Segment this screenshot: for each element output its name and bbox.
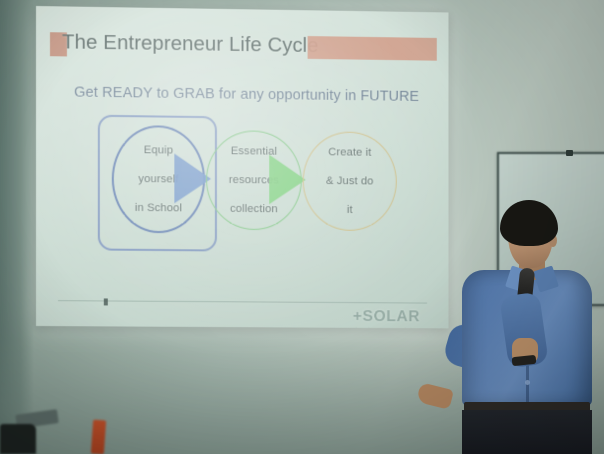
photo-vignette (0, 0, 604, 454)
screenshot-root: The Entrepreneur Life Cycle Get READY to… (0, 0, 604, 454)
